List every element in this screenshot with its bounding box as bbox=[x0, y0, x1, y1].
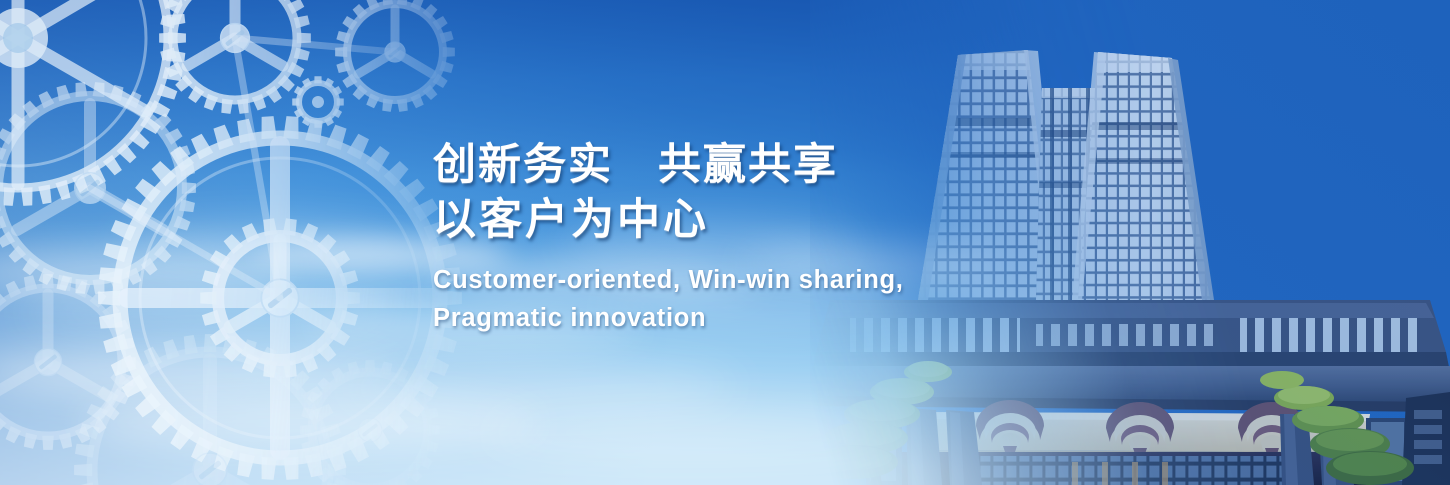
office-tower-photo bbox=[810, 0, 1450, 485]
hero-banner: 创新务实 共赢共享 以客户为中心 Customer-oriented, Win-… bbox=[0, 0, 1450, 485]
banner-copy: 创新务实 共赢共享 以客户为中心 Customer-oriented, Win-… bbox=[433, 138, 904, 337]
subtitle-en-line1: Customer-oriented, Win-win sharing, bbox=[433, 261, 904, 299]
headline-cn-line2: 以客户为中心 bbox=[433, 193, 904, 248]
headline-cn-line1: 创新务实 共赢共享 bbox=[433, 138, 904, 193]
subtitle-en-line2: Pragmatic innovation bbox=[433, 299, 904, 337]
